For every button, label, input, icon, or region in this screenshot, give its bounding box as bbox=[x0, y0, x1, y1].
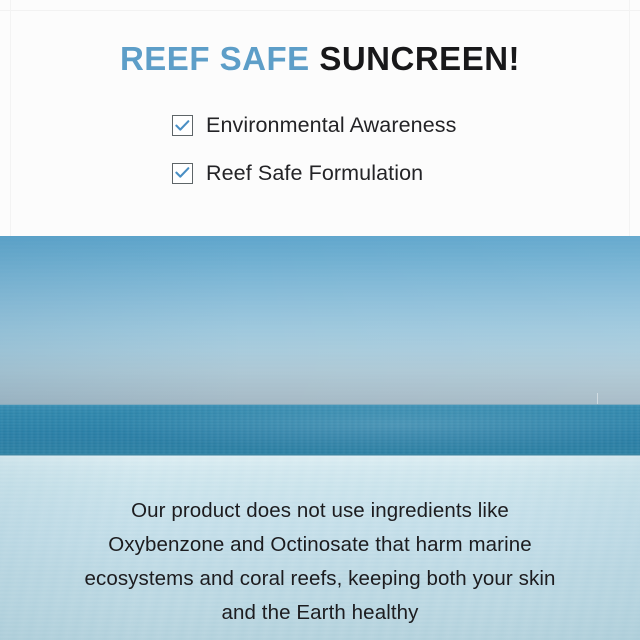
body-line: Our product does not use ingredients lik… bbox=[0, 494, 640, 528]
body-line: Oxybenzone and Octinosate that harm mari… bbox=[0, 528, 640, 562]
body-line: and the Earth healthy bbox=[0, 596, 640, 630]
checklist-item-label: Environmental Awareness bbox=[206, 115, 456, 137]
page-title-rest: SUNCREEN! bbox=[319, 40, 520, 77]
checklist-item[interactable]: Environmental Awareness bbox=[172, 115, 456, 137]
checkbox-environmental-awareness[interactable] bbox=[172, 115, 193, 136]
checklist-item-label: Reef Safe Formulation bbox=[206, 163, 423, 185]
ocean-highlight bbox=[0, 405, 640, 455]
body-paragraph: Our product does not use ingredients lik… bbox=[0, 494, 640, 630]
checkmark-icon bbox=[175, 120, 190, 132]
page-title: REEF SAFE SUNCREEN! bbox=[0, 42, 640, 77]
feature-checklist: Environmental Awareness Reef Safe Formul… bbox=[172, 115, 456, 184]
checklist-item[interactable]: Reef Safe Formulation bbox=[172, 163, 456, 185]
reef-safe-suncreen-infographic: REEF SAFE SUNCREEN! Environmental Awaren… bbox=[0, 0, 640, 640]
panel-left-divider bbox=[10, 0, 11, 236]
panel-top-divider bbox=[0, 10, 640, 11]
body-line: ecosystems and coral reefs, keeping both… bbox=[0, 562, 640, 596]
panel-right-divider bbox=[629, 0, 630, 236]
top-content-panel: REEF SAFE SUNCREEN! Environmental Awaren… bbox=[0, 0, 640, 236]
page-title-highlight: REEF SAFE bbox=[120, 40, 310, 77]
ocean-horizon-photo: Our product does not use ingredients lik… bbox=[0, 236, 640, 640]
checkbox-reef-safe-formulation[interactable] bbox=[172, 163, 193, 184]
checkmark-icon bbox=[175, 167, 190, 179]
sky-side-shading bbox=[0, 236, 640, 405]
